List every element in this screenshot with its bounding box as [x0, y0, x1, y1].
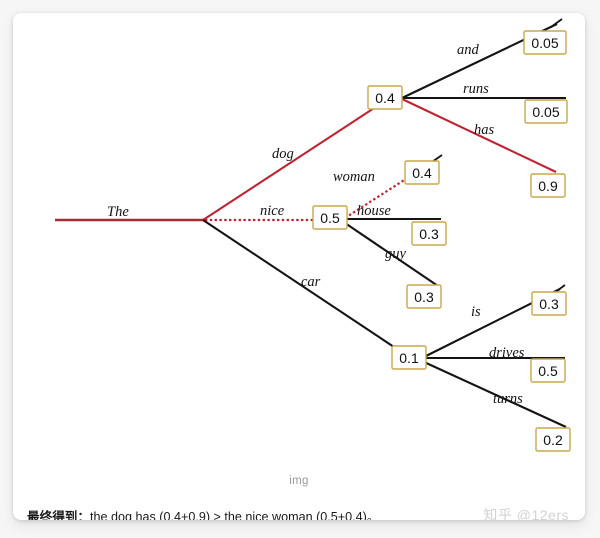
node-0-1[interactable]: 0.1: [392, 346, 426, 369]
edge-label-dog: dog: [272, 146, 294, 162]
score-and[interactable]: 0.05: [524, 31, 566, 54]
edge-label-guy: guy: [385, 246, 407, 262]
edge-label-woman: woman: [333, 169, 375, 185]
score-and-value: 0.05: [531, 35, 558, 51]
score-has[interactable]: 0.9: [531, 174, 565, 197]
score-guy[interactable]: 0.3: [407, 285, 441, 308]
edge-label-runs: runs: [463, 81, 489, 97]
node-0-4[interactable]: 0.4: [368, 86, 402, 109]
tree-figure: The dog nice car and runs has woman hous…: [13, 13, 585, 475]
score-woman-value: 0.4: [412, 165, 432, 181]
image-card: The dog nice car and runs has woman hous…: [13, 13, 585, 520]
edge-label-has: has: [474, 122, 495, 138]
score-house-value: 0.3: [419, 226, 439, 242]
edge-label-and: and: [457, 42, 480, 58]
caption-prefix: 最终得到：: [27, 510, 90, 520]
edge-label-the: The: [107, 204, 129, 220]
score-guy-value: 0.3: [414, 289, 434, 305]
node-0-4-value: 0.4: [375, 90, 395, 106]
edge-dog-line: [203, 99, 388, 220]
edge-and-tick: [551, 19, 562, 27]
score-drives-value: 0.5: [538, 363, 558, 379]
score-turns[interactable]: 0.2: [536, 428, 570, 451]
score-turns-value: 0.2: [543, 432, 563, 448]
edge-label-nice: nice: [260, 203, 285, 219]
edge-label-turns: turns: [493, 391, 523, 407]
caption-text: the dog has (0.4+0.9) > the nice woman (…: [90, 510, 379, 520]
score-has-value: 0.9: [538, 178, 558, 194]
score-drives[interactable]: 0.5: [531, 359, 565, 382]
score-runs[interactable]: 0.05: [525, 100, 567, 123]
edge-label-house: house: [357, 203, 391, 219]
edge-label-is: is: [471, 304, 481, 320]
score-runs-value: 0.05: [532, 104, 559, 120]
caption: 最终得到：the dog has (0.4+0.9) > the nice wo…: [27, 506, 585, 520]
image-placeholder-label: img: [13, 475, 585, 487]
edge-label-car: car: [301, 274, 321, 290]
node-0-5[interactable]: 0.5: [313, 206, 347, 229]
node-0-5-value: 0.5: [320, 210, 340, 226]
score-house[interactable]: 0.3: [412, 222, 446, 245]
score-woman[interactable]: 0.4: [405, 161, 439, 184]
score-is-value: 0.3: [539, 296, 559, 312]
score-is[interactable]: 0.3: [532, 292, 566, 315]
node-0-1-value: 0.1: [399, 350, 419, 366]
edge-label-drives: drives: [489, 345, 525, 361]
beam-search-tree-svg: The dog nice car and runs has woman hous…: [13, 13, 585, 520]
